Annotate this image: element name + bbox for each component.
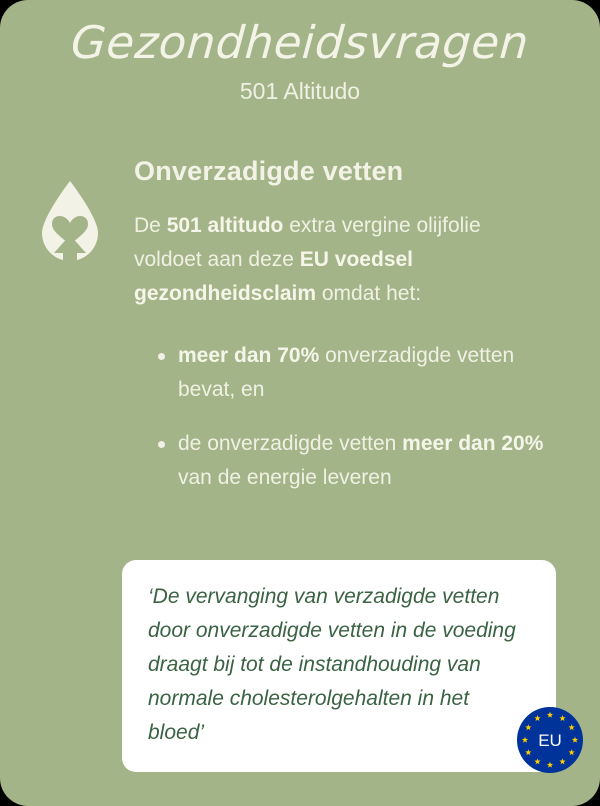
- card-header: Gezondheidsvragen 501 Altitudo: [0, 0, 600, 105]
- paragraph-part-1: De: [134, 214, 167, 237]
- claim-bullet-list: meer dan 70% onverzadigde vetten bevat, …: [134, 339, 546, 495]
- quote-text: ‘De vervanging van verzadigde vetten doo…: [148, 580, 530, 750]
- bullet-2-rest: van de energie leveren: [178, 466, 392, 489]
- intro-paragraph: De 501 altitudo extra vergine olijfolie …: [134, 209, 544, 311]
- bullet-2-lead: de onverzadigde vetten: [178, 432, 402, 455]
- bullet-dot-icon: [158, 353, 165, 360]
- bullet-1-bold: meer dan 70%: [178, 344, 319, 367]
- page-title: Gezondheidsvragen: [0, 18, 600, 68]
- list-item: de onverzadigde vetten meer dan 20% van …: [158, 427, 546, 495]
- list-item: meer dan 70% onverzadigde vetten bevat, …: [158, 339, 546, 407]
- eu-badge-label: EU: [538, 731, 562, 750]
- eu-badge: EU: [516, 706, 584, 774]
- card-body: Onverzadigde vetten De 501 altitudo extr…: [0, 155, 600, 495]
- droplet-heart-arrow-icon: [38, 179, 102, 263]
- quote-card: ‘De vervanging van verzadigde vetten doo…: [122, 560, 556, 772]
- paragraph-part-3: omdat het:: [316, 282, 421, 305]
- section-title: Onverzadigde vetten: [134, 155, 546, 187]
- bullet-dot-icon: [158, 441, 165, 448]
- health-claim-card: Gezondheidsvragen 501 Altitudo Onverzadi…: [0, 0, 600, 806]
- paragraph-bold-product: 501 altitudo: [167, 214, 284, 237]
- page-subtitle: 501 Altitudo: [0, 78, 600, 106]
- content-column: Onverzadigde vetten De 501 altitudo extr…: [134, 155, 556, 495]
- bullet-2-bold: meer dan 20%: [402, 432, 543, 455]
